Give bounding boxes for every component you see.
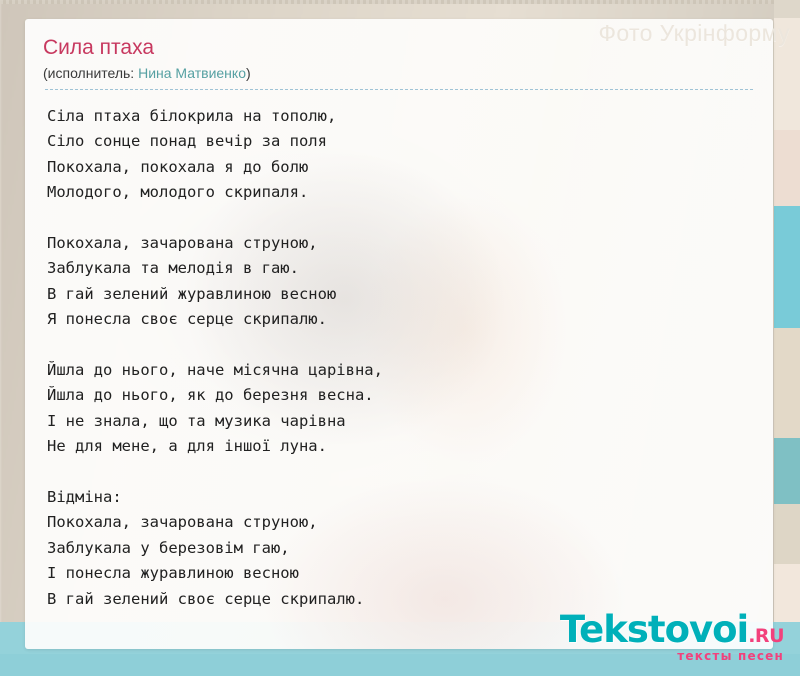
site-logo[interactable]: Tekstovoi.RU тексты песен	[560, 611, 784, 662]
color-block	[774, 0, 800, 18]
page-root: Фото Укрінформу Сила птаха (исполнитель:…	[0, 0, 800, 676]
photo-credit-watermark: Фото Укрінформу	[598, 20, 790, 47]
color-block	[774, 206, 800, 328]
artist-link[interactable]: Нина Матвиенко	[138, 65, 246, 81]
artist-line: (исполнитель: Нина Матвиенко)	[43, 65, 753, 89]
artist-prefix-label: (исполнитель:	[43, 65, 138, 81]
logo-name: Tekstovoi	[560, 608, 748, 651]
lyrics-card: Сила птаха (исполнитель: Нина Матвиенко)…	[25, 19, 773, 649]
logo-tagline: тексты песен	[560, 650, 784, 662]
color-block	[774, 438, 800, 504]
artist-suffix-label: )	[246, 65, 251, 81]
color-block	[774, 504, 800, 564]
color-block	[774, 328, 800, 438]
color-block	[774, 130, 800, 206]
right-color-strip	[774, 0, 800, 676]
top-edge-strip	[0, 0, 800, 4]
logo-tld: .RU	[748, 625, 784, 647]
header-divider	[45, 89, 753, 90]
lyrics-text: Сіла птаха білокрила на тополю, Сіло сон…	[43, 104, 753, 612]
